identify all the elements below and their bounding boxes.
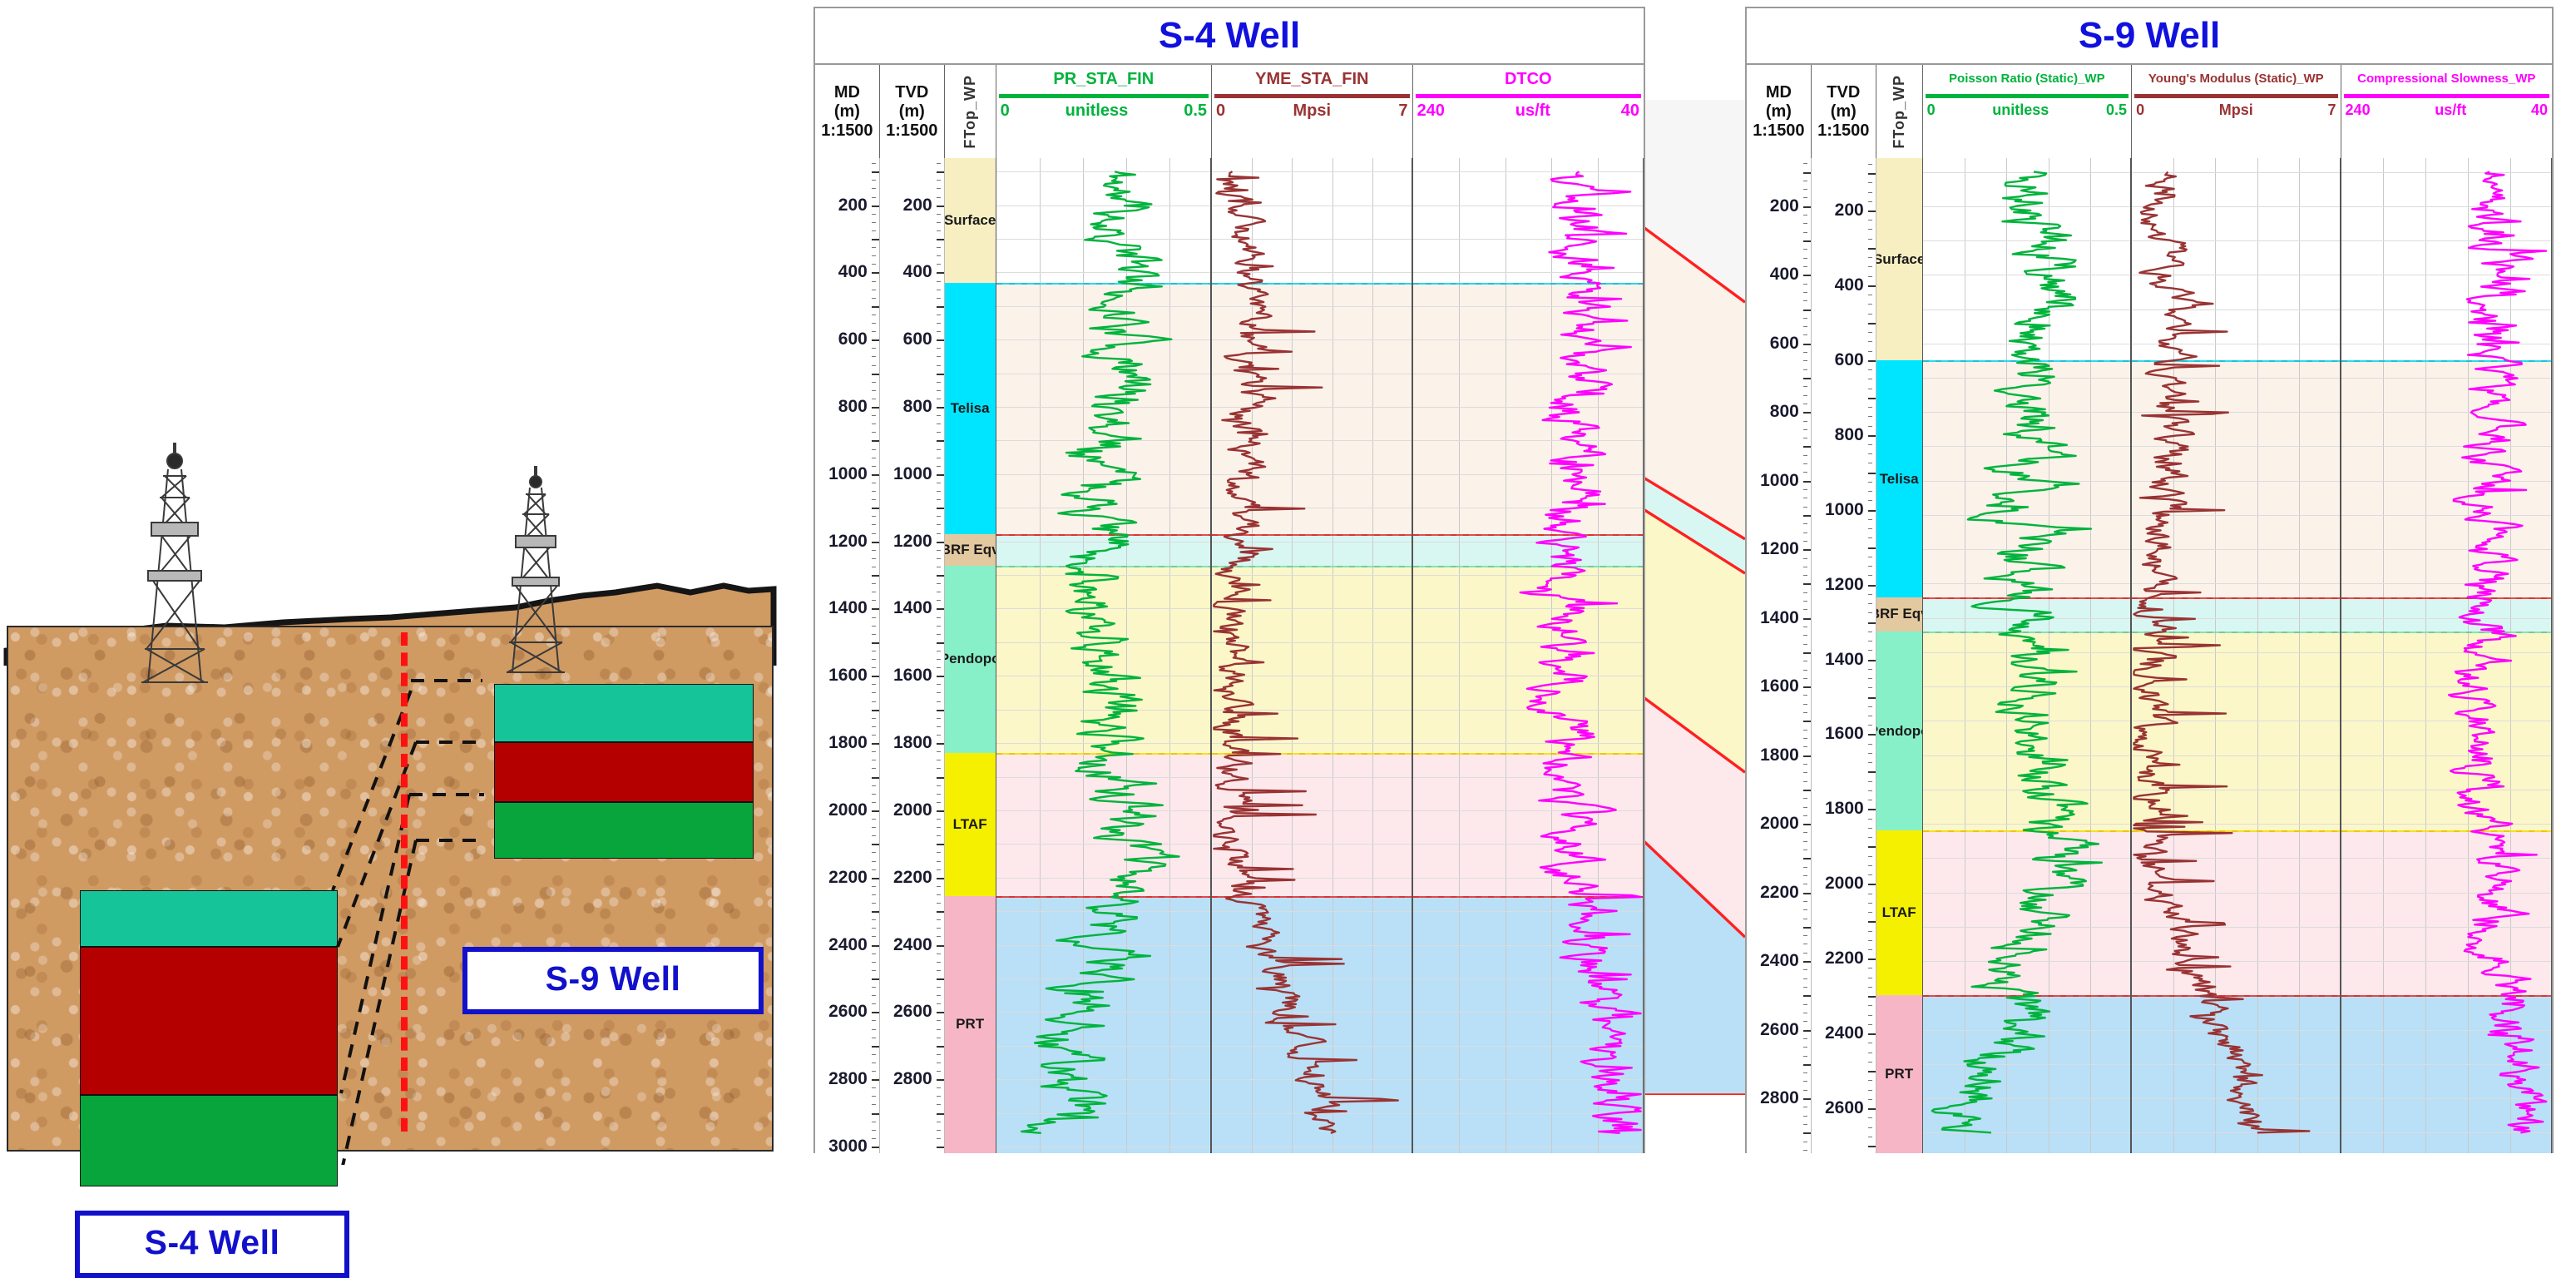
formation-label: BRF Eqv — [1876, 606, 1922, 622]
track-scale-min: 0 — [2136, 102, 2144, 119]
formation-label: Telisa — [951, 400, 990, 417]
track-scale-min: 240 — [2346, 102, 2371, 119]
panel-body-s4: 2004006008001000120014001600180020002200… — [815, 158, 1644, 1153]
header-depth-tvd-s9: TVD(m)1:1500 — [1812, 65, 1876, 158]
depth-tick-label: 400 — [838, 262, 868, 282]
header-track-s4-1[interactable]: YME_STA_FIN0Mpsi7 — [1212, 65, 1413, 158]
depth-tick-label: 2800 — [828, 1069, 868, 1089]
panel-body-s9: 2004006008001000120014001600180020002200… — [1747, 158, 2552, 1153]
log-track-youngs-modulus-curve-s4[interactable] — [1212, 158, 1413, 1153]
track-scale-max: 7 — [2328, 102, 2336, 119]
header-track-s9-2[interactable]: Compressional Slowness_WP240us/ft40 — [2341, 65, 2552, 158]
depth-tick-label: 1800 — [893, 733, 932, 753]
illustration-label-s4: S-4 Well — [75, 1211, 349, 1278]
fault-line-icon — [401, 632, 408, 1132]
depth-ruler — [872, 158, 879, 1153]
panel-header-s9: MD(m)1:1500TVD(m)1:1500FTop_WPPoisson Ra… — [1747, 65, 2552, 158]
depth-tick-label: 2000 — [828, 800, 868, 820]
poisson-ratio-curve — [996, 158, 1210, 1153]
track-scale-min: 0 — [1001, 102, 1010, 121]
depth-tick-label: 2200 — [1825, 949, 1864, 968]
depth-tick-label: 2000 — [893, 800, 932, 820]
track-title: YME_STA_FIN — [1212, 68, 1412, 90]
illustration-label-s9: S-9 Well — [462, 947, 764, 1014]
depth-tick-label: 1000 — [828, 464, 868, 484]
depth-tick-label: 1200 — [828, 532, 868, 552]
log-track-compressional-slowness-curve-s9[interactable] — [2341, 158, 2552, 1153]
depth-tick-label: 2800 — [893, 1069, 932, 1089]
header-ftop-label: FTop_WP — [962, 75, 979, 149]
depth-ruler — [1868, 158, 1876, 1153]
track-title: PR_STA_FIN — [996, 68, 1211, 90]
header-ftop-label: FTop_WP — [1891, 75, 1908, 149]
depth-tick-label: 2000 — [1825, 874, 1864, 894]
depth-tick-label: 600 — [838, 329, 868, 349]
track-scale-max: 0.5 — [2106, 102, 2127, 119]
depth-tick-label: 200 — [1770, 196, 1799, 216]
track-unit: Mpsi — [2219, 102, 2253, 119]
depth-ruler — [1803, 158, 1811, 1153]
depth-tick-label: 1400 — [1760, 608, 1799, 628]
depth-tick-label: 1400 — [893, 598, 932, 618]
depth-tick-label: 1600 — [893, 666, 932, 686]
depth-tick-label: 2600 — [828, 1002, 868, 1022]
depth-tick-label: 2200 — [1760, 883, 1799, 903]
header-track-s4-2[interactable]: DTCO240us/ft40 — [1413, 65, 1644, 158]
header-ftop-s4: FTop_WP — [945, 65, 996, 158]
ftop-column-s4: SurfaceTelisaBRF EqvPendopoLTAFPRT — [945, 158, 996, 1153]
depth-tick-label: 2800 — [1760, 1088, 1799, 1108]
depth-tick-label: 1200 — [1825, 575, 1864, 595]
track-scale-max: 40 — [2531, 102, 2548, 119]
track-scale-max: 40 — [1621, 102, 1639, 121]
track-color-bar — [2134, 94, 2337, 98]
depth-tick-label: 2400 — [1825, 1023, 1864, 1043]
formation-label: Surface — [945, 212, 996, 229]
depth-tick-label: 1600 — [1825, 724, 1864, 744]
well-correlation-illustration: S-9 Well S-4 Well — [0, 0, 782, 1159]
formation-zone-ltaf: LTAF — [1876, 830, 1922, 995]
depth-tick-label: 2400 — [893, 935, 932, 955]
depth-tick-label: 2400 — [828, 935, 868, 955]
header-depth-md-s9: MD(m)1:1500 — [1747, 65, 1812, 158]
header-track-s4-0[interactable]: PR_STA_FIN0unitless0.5 — [996, 65, 1212, 158]
depth-tick-label: 1000 — [893, 464, 932, 484]
depth-tick-label: 600 — [1835, 350, 1864, 370]
formation-label: Surface — [1876, 251, 1922, 268]
track-title: Young's Modulus (Static)_WP — [2132, 68, 2340, 90]
formation-zone-telisa: Telisa — [1876, 360, 1922, 597]
log-panel-s4: S-4 Well MD(m)1:1500TVD(m)1:1500FTop_WPP… — [813, 7, 1645, 1153]
depth-tick-label: 1600 — [828, 666, 868, 686]
track-color-bar — [1416, 94, 1641, 98]
depth-ruler — [937, 158, 944, 1153]
depth-tick-label: 800 — [1770, 402, 1799, 422]
formation-label: PRT — [956, 1016, 984, 1033]
header-depth-tvd-s4: TVD(m)1:1500 — [880, 65, 945, 158]
track-scale-min: 0 — [1216, 102, 1225, 121]
formation-label: Telisa — [1880, 471, 1919, 488]
depth-tick-label: 2600 — [1760, 1020, 1799, 1040]
header-depth-name: TVD(m)1:1500 — [1817, 83, 1869, 141]
log-panel-s9: S-9 Well MD(m)1:1500TVD(m)1:1500FTop_WPP… — [1745, 7, 2554, 1153]
track-scale-min: 0 — [1927, 102, 1936, 119]
ftop-column-s9: SurfaceTelisaBRF EqvPendopoLTAFPRT — [1876, 158, 1923, 1153]
depth-column-tvd-s4: 2004006008001000120014001600180020002200… — [880, 158, 945, 1153]
formation-zone-surface: Surface — [945, 158, 996, 283]
log-track-poisson-ratio-curve-s4[interactable] — [996, 158, 1212, 1153]
formation-label: PRT — [1885, 1066, 1913, 1082]
header-depth-name: TVD(m)1:1500 — [886, 83, 937, 141]
depth-tick-label: 1000 — [1760, 471, 1799, 491]
panel-title-s4: S-4 Well — [815, 8, 1644, 65]
depth-column-md-s4: 2004006008001000120014001600180020002200… — [815, 158, 880, 1153]
depth-tick-label: 800 — [903, 397, 932, 417]
depth-tick-label: 400 — [1770, 265, 1799, 285]
formation-zone-prt: PRT — [1876, 995, 1922, 1153]
depth-tick-label: 2600 — [1825, 1098, 1864, 1118]
depth-tick-label: 1800 — [828, 733, 868, 753]
track-scale-max: 7 — [1398, 102, 1407, 121]
track-unit: us/ft — [2435, 102, 2466, 119]
youngs-modulus-curve — [1212, 158, 1412, 1153]
depth-column-tvd-s9: 2004006008001000120014001600180020002200… — [1812, 158, 1876, 1153]
formation-zone-brf-eqv: BRF Eqv — [945, 534, 996, 566]
formation-label: LTAF — [953, 816, 987, 833]
depth-tick-label: 2000 — [1760, 814, 1799, 834]
depth-tick-label: 200 — [838, 196, 868, 215]
depth-tick-label: 600 — [903, 329, 932, 349]
header-depth-name: MD(m)1:1500 — [821, 83, 873, 141]
formation-label: LTAF — [1882, 904, 1916, 921]
track-unit: Mpsi — [1293, 102, 1332, 121]
depth-tick-label: 1400 — [1825, 650, 1864, 670]
log-track-poisson-ratio-curve-s9[interactable] — [1923, 158, 2132, 1153]
depth-tick-label: 3000 — [828, 1137, 868, 1157]
track-title: DTCO — [1413, 68, 1644, 90]
track-scale-max: 0.5 — [1184, 102, 1207, 121]
header-track-s9-0[interactable]: Poisson Ratio (Static)_WP0unitless0.5 — [1923, 65, 2132, 158]
track-scale-min: 240 — [1417, 102, 1445, 121]
track-unit: unitless — [1066, 102, 1129, 121]
track-color-bar — [1214, 94, 1410, 98]
formation-label: Pendopo — [1876, 723, 1922, 740]
poisson-ratio-curve — [1923, 158, 2130, 1153]
header-track-s9-1[interactable]: Young's Modulus (Static)_WP0Mpsi7 — [2132, 65, 2341, 158]
formation-zone-brf-eqv: BRF Eqv — [1876, 597, 1922, 632]
correlation-tie-lines — [0, 616, 782, 1165]
track-unit: us/ft — [1515, 102, 1550, 121]
depth-tick-label: 400 — [903, 262, 932, 282]
depth-tick-label: 600 — [1770, 334, 1799, 354]
depth-tick-label: 1600 — [1760, 676, 1799, 696]
formation-zone-pendopo: Pendopo — [945, 566, 996, 754]
youngs-modulus-curve — [2132, 158, 2339, 1153]
depth-tick-label: 1200 — [1760, 539, 1799, 559]
formation-zone-surface: Surface — [1876, 158, 1922, 360]
depth-tick-label: 200 — [1835, 201, 1864, 220]
log-track-compressional-slowness-curve-s4[interactable] — [1413, 158, 1644, 1153]
track-title: Compressional Slowness_WP — [2341, 68, 2552, 90]
depth-tick-label: 2600 — [893, 1002, 932, 1022]
track-unit: unitless — [1992, 102, 2049, 119]
depth-column-md-s9: 2004006008001000120014001600180020002200… — [1747, 158, 1812, 1153]
track-color-bar — [1926, 94, 2129, 98]
track-title: Poisson Ratio (Static)_WP — [1923, 68, 2131, 90]
correlation-fan — [1640, 100, 1745, 1095]
header-depth-name: MD(m)1:1500 — [1753, 83, 1804, 141]
formation-zone-prt: PRT — [945, 896, 996, 1153]
depth-tick-label: 800 — [1835, 425, 1864, 445]
depth-tick-label: 2200 — [893, 868, 932, 888]
sky-background — [0, 0, 782, 632]
depth-tick-label: 2200 — [828, 868, 868, 888]
track-color-bar — [2344, 94, 2549, 98]
compressional-slowness-curve — [2341, 158, 2551, 1153]
compressional-slowness-curve — [1413, 158, 1643, 1153]
header-depth-md-s4: MD(m)1:1500 — [815, 65, 880, 158]
header-ftop-s9: FTop_WP — [1876, 65, 1923, 158]
formation-zone-ltaf: LTAF — [945, 753, 996, 896]
depth-tick-label: 1400 — [828, 598, 868, 618]
log-track-youngs-modulus-curve-s9[interactable] — [2132, 158, 2341, 1153]
depth-tick-label: 2400 — [1760, 951, 1799, 971]
depth-tick-label: 1800 — [1760, 745, 1799, 765]
depth-tick-label: 1000 — [1825, 500, 1864, 520]
depth-tick-label: 1800 — [1825, 799, 1864, 819]
panel-header-s4: MD(m)1:1500TVD(m)1:1500FTop_WPPR_STA_FIN… — [815, 65, 1644, 158]
formation-zone-telisa: Telisa — [945, 283, 996, 533]
depth-tick-label: 800 — [838, 397, 868, 417]
track-color-bar — [999, 94, 1209, 98]
formation-label: Pendopo — [945, 651, 996, 667]
formation-label: BRF Eqv — [945, 542, 996, 558]
depth-tick-label: 400 — [1835, 275, 1864, 295]
formation-zone-pendopo: Pendopo — [1876, 632, 1922, 830]
panel-title-s9: S-9 Well — [1747, 8, 2552, 65]
depth-tick-label: 200 — [903, 196, 932, 215]
depth-tick-label: 1200 — [893, 532, 932, 552]
